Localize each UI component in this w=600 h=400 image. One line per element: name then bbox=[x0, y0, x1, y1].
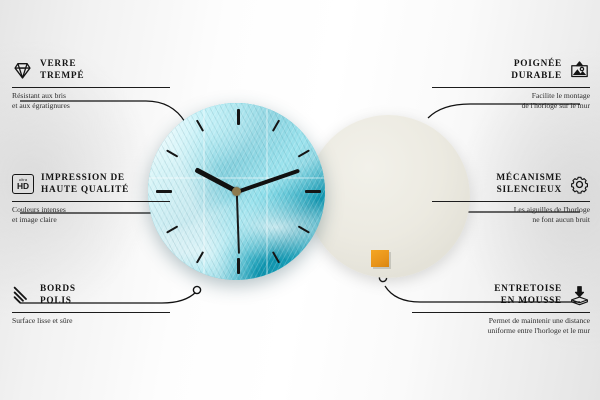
infographic-stage: VERRE TREMPÉ Résistant aux bris et aux é… bbox=[0, 0, 600, 400]
feature-sub-line2: et aux égratignures bbox=[12, 101, 170, 111]
feature-sub-line1: Couleurs intenses bbox=[12, 205, 170, 215]
feature-title-line1: ENTRETOISE bbox=[494, 283, 562, 295]
divider bbox=[432, 87, 590, 88]
divider bbox=[12, 201, 170, 202]
feature-entretoise-en-mousse: ENTRETOISE EN MOUSSE Permet de maintenir… bbox=[412, 283, 590, 337]
divider bbox=[12, 87, 170, 88]
feature-title-line2: SILENCIEUX bbox=[496, 184, 562, 196]
feature-title-line2: TREMPÉ bbox=[40, 70, 84, 82]
feature-title-line1: VERRE bbox=[40, 58, 84, 70]
feature-sub-line1: Surface lisse et sûre bbox=[12, 316, 170, 326]
feature-sub-line1: Les aiguilles de l'horloge bbox=[432, 205, 590, 215]
leader-marker bbox=[193, 286, 200, 293]
feature-title-line1: IMPRESSION DE bbox=[41, 172, 129, 184]
divider bbox=[432, 201, 590, 202]
feature-title-line2: EN MOUSSE bbox=[494, 295, 562, 307]
picture-hanger-icon bbox=[569, 60, 590, 81]
feature-impression-haute-qualite: ultra HD IMPRESSION DE HAUTE QUALITÉ Cou… bbox=[12, 172, 170, 226]
feature-title-line1: MÉCANISME bbox=[496, 172, 562, 184]
divider bbox=[412, 312, 590, 313]
feature-sub-line2: ne font aucun bruit bbox=[432, 215, 590, 225]
ultra-hd-icon-main: HD bbox=[17, 182, 29, 190]
feature-sub-line1: Facilite le montage bbox=[432, 91, 590, 101]
foam-spacer bbox=[371, 250, 389, 267]
feature-bords-polis: BORDS POLIS Surface lisse et sûre bbox=[12, 283, 170, 326]
feature-verre-trempe: VERRE TREMPÉ Résistant aux bris et aux é… bbox=[12, 58, 170, 112]
polished-edge-lines-icon bbox=[12, 285, 33, 306]
feature-title-line1: POIGNÉE bbox=[511, 58, 562, 70]
feature-title-line1: BORDS bbox=[40, 283, 76, 295]
feature-title-line2: HAUTE QUALITÉ bbox=[41, 184, 129, 196]
feature-mecanisme-silencieux: MÉCANISME SILENCIEUX Les aiguilles de l'… bbox=[432, 172, 590, 226]
gear-icon bbox=[569, 174, 590, 195]
feature-sub-line1: Permet de maintenir une distance bbox=[412, 316, 590, 326]
ultra-hd-icon: ultra HD bbox=[12, 174, 34, 194]
clock-front-face bbox=[148, 103, 325, 280]
hour-tick bbox=[305, 190, 321, 193]
hour-tick bbox=[237, 258, 240, 274]
feature-title-line2: DURABLE bbox=[511, 70, 562, 82]
feature-title-line2: POLIS bbox=[40, 295, 76, 307]
feature-sub-line2: de l'horloge sur le mur bbox=[432, 101, 590, 111]
feature-sub-line1: Résistant aux bris bbox=[12, 91, 170, 101]
diamond-icon bbox=[12, 60, 33, 81]
feature-poignee-durable: POIGNÉE DURABLE Facilite le montage de l… bbox=[432, 58, 590, 112]
feature-sub-line2: uniforme entre l'horloge et le mur bbox=[412, 326, 590, 336]
hands-center-cap bbox=[232, 187, 241, 196]
divider bbox=[12, 312, 170, 313]
feature-sub-line2: et image claire bbox=[12, 215, 170, 225]
foam-spacer-icon bbox=[569, 285, 590, 306]
hour-tick bbox=[237, 109, 240, 125]
